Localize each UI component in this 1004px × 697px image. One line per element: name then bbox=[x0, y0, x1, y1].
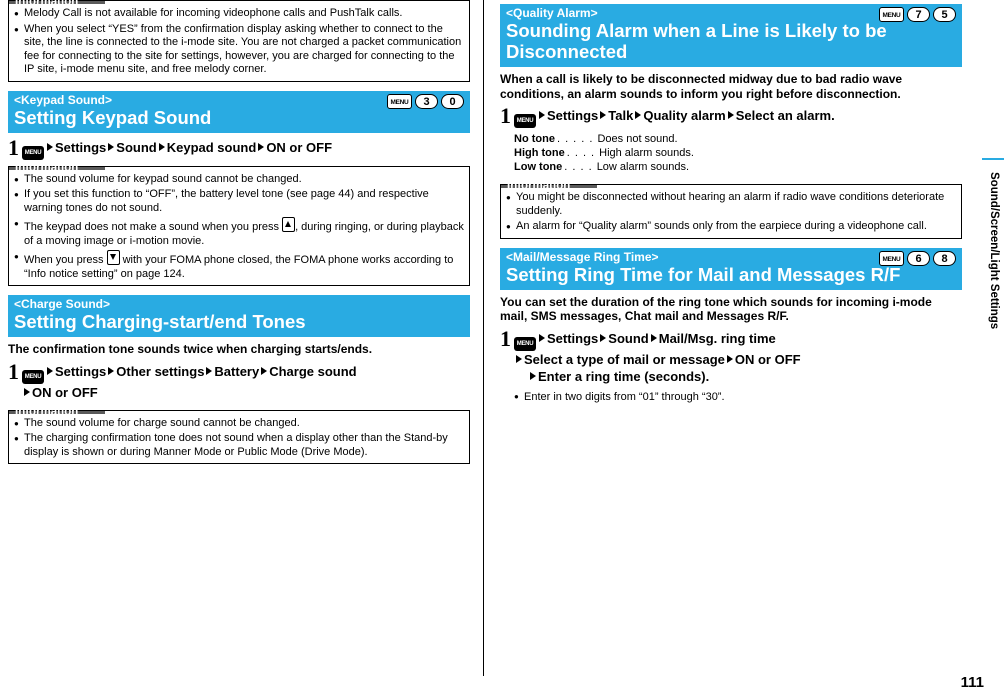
option-dots: . . . . bbox=[562, 160, 596, 174]
right-column: <Quality Alarm> Sounding Alarm when a Li… bbox=[500, 0, 962, 404]
step-keypad-sound: 1 MENUSettingsSoundKeypad soundON or OFF bbox=[8, 138, 470, 160]
number-key-icon: 3 bbox=[415, 94, 438, 109]
information-item: The charging confirmation tone does not … bbox=[14, 432, 464, 459]
arrow-icon bbox=[530, 372, 536, 380]
step-part: Settings bbox=[547, 331, 598, 346]
step-part: Sound bbox=[116, 140, 156, 155]
step-number: 1 bbox=[8, 138, 22, 158]
side-tab: Sound/Screen/Light Settings bbox=[982, 0, 1004, 697]
arrow-icon bbox=[651, 334, 657, 342]
information-header: Information bbox=[9, 167, 105, 170]
information-header: Information bbox=[501, 185, 597, 188]
step-part: Other settings bbox=[116, 364, 204, 379]
step-part: Keypad sound bbox=[167, 140, 257, 155]
step-part: ON or OFF bbox=[32, 385, 98, 400]
option-description: Low alarm sounds. bbox=[597, 160, 689, 174]
step-number: 1 bbox=[8, 362, 22, 382]
arrow-icon bbox=[206, 367, 212, 375]
step-part: Select an alarm. bbox=[736, 108, 835, 123]
step-mail-ring-time: 1 MENUSettingsSoundMail/Msg. ring time bbox=[500, 329, 962, 351]
step-charge-sound: 1 MENUSettingsOther settingsBatteryCharg… bbox=[8, 362, 470, 384]
side-tab-label: Sound/Screen/Light Settings bbox=[985, 172, 1003, 329]
step-text: MENUSettingsTalkQuality alarmSelect an a… bbox=[514, 106, 962, 128]
section-title: Setting Ring Time for Mail and Messages … bbox=[506, 264, 956, 285]
information-item: When you select “YES” from the confirmat… bbox=[14, 23, 464, 77]
information-box-charge-sound: Information The sound volume for charge … bbox=[8, 410, 470, 465]
section-header-keypad-sound: <Keypad Sound> Setting Keypad Sound MENU… bbox=[8, 91, 470, 133]
information-body: Melody Call is not available for incomin… bbox=[9, 4, 469, 81]
option-term: No tone bbox=[514, 132, 555, 146]
section-lead-text: When a call is likely to be disconnected… bbox=[500, 72, 962, 101]
step-part: Talk bbox=[608, 108, 633, 123]
note-mail-ring-time: Enter in two digits from “01” through “3… bbox=[514, 390, 962, 404]
step-number: 1 bbox=[500, 329, 514, 349]
step-part: Settings bbox=[55, 364, 106, 379]
arrow-icon bbox=[727, 355, 733, 363]
down-key-icon bbox=[107, 250, 120, 265]
step-mail-ring-time-continued-1: Select a type of mail or messageON or OF… bbox=[500, 351, 962, 368]
section-title: Setting Keypad Sound bbox=[14, 107, 464, 128]
menu-key-icon: MENU bbox=[22, 146, 44, 160]
menu-key-icon: MENU bbox=[879, 251, 904, 266]
arrow-icon bbox=[24, 388, 30, 396]
arrow-icon bbox=[600, 111, 606, 119]
information-box-melody-call: Information Melody Call is not available… bbox=[8, 0, 470, 82]
step-part: Sound bbox=[608, 331, 648, 346]
information-box-keypad-sound: Information The sound volume for keypad … bbox=[8, 166, 470, 287]
page-number: 111 bbox=[961, 674, 984, 691]
information-item: You might be disconnected without hearin… bbox=[506, 191, 956, 218]
menu-key-icon: MENU bbox=[22, 370, 44, 384]
number-key-icon: 0 bbox=[441, 94, 464, 109]
number-key-icon: 8 bbox=[933, 251, 956, 266]
step-part: ON or OFF bbox=[735, 352, 801, 367]
section-title: Sounding Alarm when a Line is Likely to … bbox=[506, 20, 956, 62]
column-divider bbox=[483, 0, 484, 676]
arrow-icon bbox=[261, 367, 267, 375]
option-dots: . . . . . bbox=[555, 132, 598, 146]
left-column: Information Melody Call is not available… bbox=[8, 0, 470, 464]
section-header-quality-alarm: <Quality Alarm> Sounding Alarm when a Li… bbox=[500, 4, 962, 67]
step-charge-sound-continued: ON or OFF bbox=[8, 384, 470, 401]
menu-key-icon: MENU bbox=[387, 94, 412, 109]
section-subtitle: <Charge Sound> bbox=[14, 297, 464, 311]
option-row: Low tone . . . . Low alarm sounds. bbox=[514, 160, 962, 174]
option-row: No tone . . . . . Does not sound. bbox=[514, 132, 962, 146]
option-term: High tone bbox=[514, 146, 565, 160]
information-body: The sound volume for charge sound cannot… bbox=[9, 414, 469, 464]
information-item: The sound volume for charge sound cannot… bbox=[14, 417, 464, 431]
section-shortcut-keys: MENU 6 8 bbox=[879, 251, 956, 266]
step-part: Mail/Msg. ring time bbox=[659, 331, 776, 346]
number-key-icon: 6 bbox=[907, 251, 930, 266]
section-header-mail-ring-time: <Mail/Message Ring Time> Setting Ring Ti… bbox=[500, 248, 962, 290]
information-item: When you press with your FOMA phone clos… bbox=[14, 250, 464, 281]
arrow-icon bbox=[728, 111, 734, 119]
information-header: Information bbox=[9, 1, 105, 4]
section-lead-text: You can set the duration of the ring ton… bbox=[500, 295, 962, 324]
option-dots: . . . . bbox=[565, 146, 599, 160]
arrow-icon bbox=[635, 111, 641, 119]
step-text: MENUSettingsOther settingsBatteryCharge … bbox=[22, 362, 470, 384]
step-part: ON or OFF bbox=[266, 140, 332, 155]
arrow-icon bbox=[600, 334, 606, 342]
arrow-icon bbox=[539, 334, 545, 342]
arrow-icon bbox=[108, 367, 114, 375]
arrow-icon bbox=[539, 111, 545, 119]
information-item: An alarm for “Quality alarm” sounds only… bbox=[506, 220, 956, 234]
information-item: The sound volume for keypad sound cannot… bbox=[14, 173, 464, 187]
information-item: The keypad does not make a sound when yo… bbox=[14, 217, 464, 248]
option-row: High tone . . . . High alarm sounds. bbox=[514, 146, 962, 160]
information-box-quality-alarm: Information You might be disconnected wi… bbox=[500, 184, 962, 239]
manual-page: Information Melody Call is not available… bbox=[0, 0, 1004, 697]
side-tab-bar bbox=[982, 158, 1004, 160]
step-text: MENUSettingsSoundMail/Msg. ring time bbox=[514, 329, 962, 351]
information-header: Information bbox=[9, 411, 105, 414]
step-mail-ring-time-continued-2: Enter a ring time (seconds). bbox=[500, 368, 962, 385]
arrow-icon bbox=[516, 355, 522, 363]
step-part: Quality alarm bbox=[643, 108, 725, 123]
up-key-icon bbox=[282, 217, 295, 232]
number-key-icon: 7 bbox=[907, 7, 930, 22]
number-key-icon: 5 bbox=[933, 7, 956, 22]
arrow-icon bbox=[258, 143, 264, 151]
section-shortcut-keys: MENU 7 5 bbox=[879, 7, 956, 22]
information-item: If you set this function to “OFF”, the b… bbox=[14, 188, 464, 215]
section-lead-text: The confirmation tone sounds twice when … bbox=[8, 342, 470, 357]
arrow-icon bbox=[159, 143, 165, 151]
information-body: The sound volume for keypad sound cannot… bbox=[9, 170, 469, 286]
step-number: 1 bbox=[500, 106, 514, 126]
section-shortcut-keys: MENU 3 0 bbox=[387, 94, 464, 109]
step-part: Enter a ring time (seconds). bbox=[538, 369, 709, 384]
arrow-icon bbox=[108, 143, 114, 151]
step-part: Charge sound bbox=[269, 364, 356, 379]
information-item: Melody Call is not available for incomin… bbox=[14, 7, 464, 21]
quality-alarm-options: No tone . . . . . Does not sound. High t… bbox=[500, 132, 962, 174]
menu-key-icon: MENU bbox=[879, 7, 904, 22]
information-body: You might be disconnected without hearin… bbox=[501, 188, 961, 238]
option-description: Does not sound. bbox=[597, 132, 677, 146]
arrow-icon bbox=[47, 143, 53, 151]
section-title: Setting Charging-start/end Tones bbox=[14, 311, 464, 332]
step-quality-alarm: 1 MENUSettingsTalkQuality alarmSelect an… bbox=[500, 106, 962, 128]
arrow-icon bbox=[47, 367, 53, 375]
step-part: Select a type of mail or message bbox=[524, 352, 725, 367]
step-text: MENUSettingsSoundKeypad soundON or OFF bbox=[22, 138, 470, 160]
step-part: Battery bbox=[214, 364, 259, 379]
menu-key-icon: MENU bbox=[514, 114, 536, 128]
menu-key-icon: MENU bbox=[514, 337, 536, 351]
option-term: Low tone bbox=[514, 160, 562, 174]
step-part: Settings bbox=[547, 108, 598, 123]
option-description: High alarm sounds. bbox=[599, 146, 694, 160]
section-header-charge-sound: <Charge Sound> Setting Charging-start/en… bbox=[8, 295, 470, 337]
step-part: Settings bbox=[55, 140, 106, 155]
